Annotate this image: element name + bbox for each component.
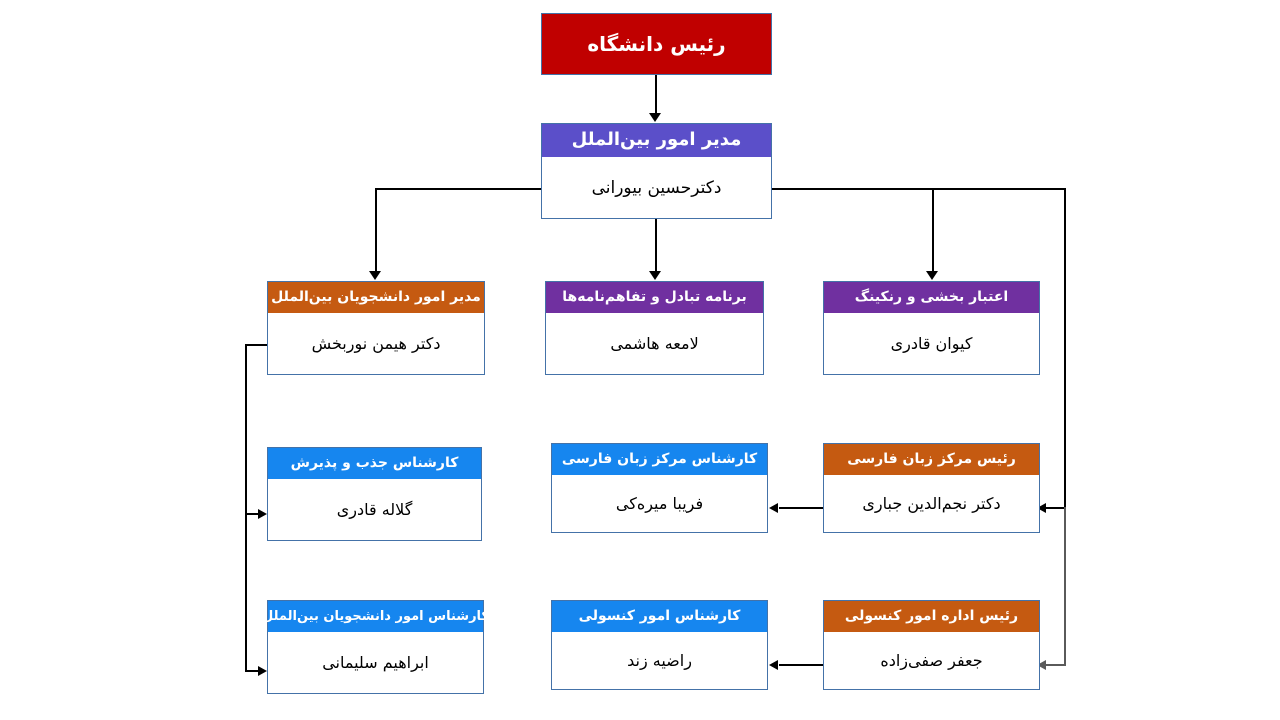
node-consular-office-head[interactable]: رئیس اداره امور کنسولی جعفر صفی‌زاده [823, 600, 1040, 690]
connector-left-rail-branch-intl-expert [245, 670, 259, 672]
node-president-title: رئیس دانشگاه [542, 14, 771, 74]
node-accreditation-ranking-person: کیوان قادری [824, 313, 1039, 374]
node-intl-students-director-person: دکتر هیمن نوربخش [268, 313, 484, 374]
connector-right-rail-branch-persian [1046, 507, 1066, 509]
node-consular-affairs-expert[interactable]: کارشناس امور کنسولی راضیه زند [551, 600, 768, 690]
node-persian-center-expert[interactable]: کارشناس مرکز زبان فارسی فریبا میره‌کی [551, 443, 768, 533]
node-exchange-mou-person: لامعه هاشمی [546, 313, 763, 374]
arrowhead-admissions-expert [258, 509, 267, 519]
connector-right-rail-branch-consular [1046, 664, 1066, 666]
connector-bus-drop-left [375, 188, 377, 272]
connector-persian-head-to-expert [779, 507, 824, 509]
node-consular-expert-intl-title: کارشناس امور دانشجویان بین‌الملل [268, 601, 483, 632]
connector-left-rail [245, 344, 247, 672]
node-persian-center-expert-title: کارشناس مرکز زبان فارسی [552, 444, 767, 475]
arrowhead-persian-center-expert [769, 503, 778, 513]
node-president[interactable]: رئیس دانشگاه [541, 13, 772, 75]
node-persian-center-head-title: رئیس مرکز زبان فارسی [824, 444, 1039, 475]
arrowhead-accreditation-ranking [926, 271, 938, 280]
arrowhead-intl-students-director [369, 271, 381, 280]
node-exchange-mou[interactable]: برنامه تبادل و تفاهم‌نامه‌ها لامعه هاشمی [545, 281, 764, 375]
node-accreditation-ranking-title: اعتبار بخشی و رنکینگ [824, 282, 1039, 313]
connector-right-rail [1064, 188, 1066, 513]
connector-left-rail-branch-admissions [245, 513, 259, 515]
node-admissions-expert-title: کارشناس جذب و پذیرش [268, 448, 481, 479]
node-intl-director-title: مدیر امور بین‌الملل [542, 124, 771, 157]
arrowhead-director-top [649, 113, 661, 122]
node-intl-director-person: دکترحسین بیورانی [542, 157, 771, 218]
node-intl-director[interactable]: مدیر امور بین‌الملل دکترحسین بیورانی [541, 123, 772, 219]
node-consular-expert-intl[interactable]: کارشناس امور دانشجویان بین‌الملل ابراهیم… [267, 600, 484, 694]
node-consular-affairs-expert-person: راضیه زند [552, 632, 767, 689]
node-persian-center-head-person: دکتر نجم‌الدین جباری [824, 475, 1039, 532]
node-admissions-expert-person: گلاله قادری [268, 479, 481, 540]
node-intl-students-director[interactable]: مدیر امور دانشجویان بین‌الملل دکتر هیمن … [267, 281, 485, 375]
node-admissions-expert[interactable]: کارشناس جذب و پذیرش گلاله قادری [267, 447, 482, 541]
node-consular-office-head-person: جعفر صفی‌زاده [824, 632, 1039, 689]
node-persian-center-head[interactable]: رئیس مرکز زبان فارسی دکتر نجم‌الدین جبار… [823, 443, 1040, 533]
node-accreditation-ranking[interactable]: اعتبار بخشی و رنکینگ کیوان قادری [823, 281, 1040, 375]
node-persian-center-expert-person: فریبا میره‌کی [552, 475, 767, 532]
node-consular-expert-intl-person: ابراهیم سلیمانی [268, 632, 483, 693]
node-consular-office-head-title: رئیس اداره امور کنسولی [824, 601, 1039, 632]
node-consular-affairs-expert-title: کارشناس امور کنسولی [552, 601, 767, 632]
node-exchange-mou-title: برنامه تبادل و تفاهم‌نامه‌ها [546, 282, 763, 313]
arrowhead-exchange-mou [649, 271, 661, 280]
connector-president-to-director [655, 75, 657, 114]
connector-bus-drop-right [932, 188, 934, 272]
connector-bus-drop-center [655, 219, 657, 272]
arrowhead-consular-expert-intl [258, 666, 267, 676]
connector-right-rail-lower [1064, 507, 1066, 665]
org-chart-canvas: رئیس دانشگاه مدیر امور بین‌الملل دکترحسی… [0, 0, 1280, 720]
arrowhead-consular-affairs-expert [769, 660, 778, 670]
connector-left-rail-stub [245, 344, 269, 346]
connector-consular-head-to-expert [779, 664, 824, 666]
node-intl-students-director-title: مدیر امور دانشجویان بین‌الملل [268, 282, 484, 313]
